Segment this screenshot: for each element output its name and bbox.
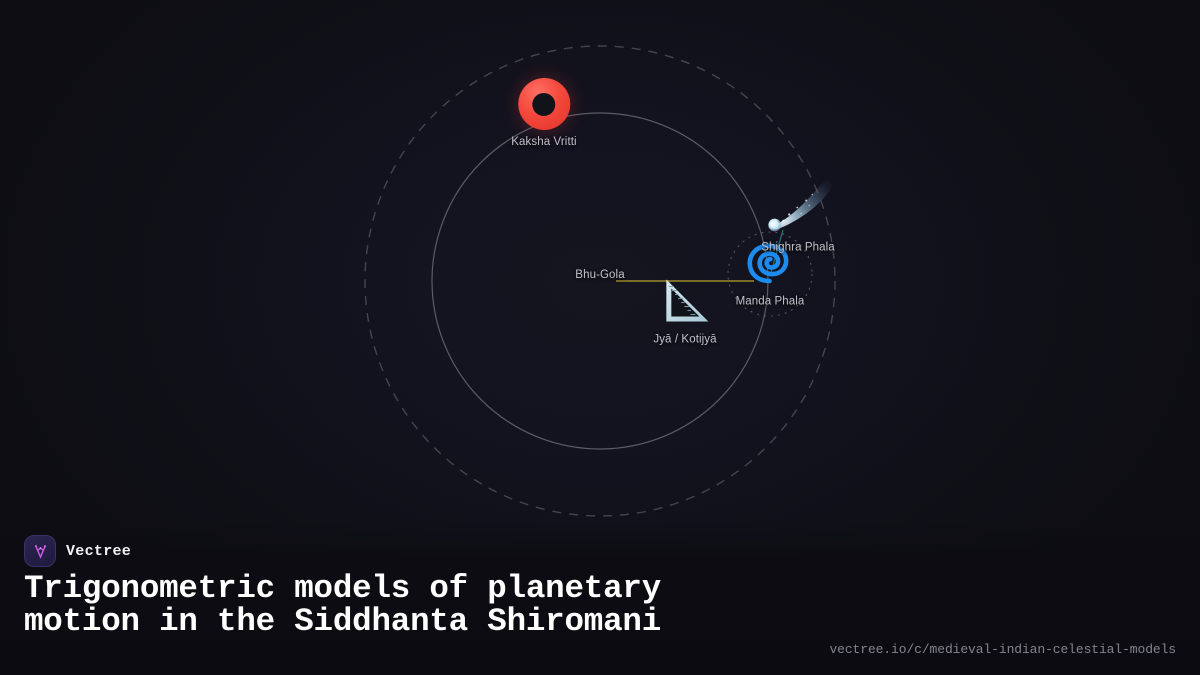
- node-bhu-gola[interactable]: Bhu-Gola: [575, 263, 624, 281]
- footer-bar: Vectree Trigonometric models of planetar…: [0, 520, 1200, 675]
- brand-name: Vectree: [66, 543, 131, 560]
- footer-url[interactable]: vectree.io/c/medieval-indian-celestial-m…: [829, 642, 1176, 657]
- page-title: Trigonometric models of planetary motion…: [24, 572, 661, 638]
- node-jya-kotijya[interactable]: Jyā / Kotijyā: [653, 277, 716, 346]
- node-label-kaksha-vritti: Kaksha Vritti: [511, 136, 576, 148]
- node-label-shighra-phala: Shighra Phala: [761, 242, 835, 254]
- screenshot-root: Kaksha Vritti Bhu-Gola Manda Phala: [0, 0, 1200, 675]
- page-title-line-1: Trigonometric models of planetary: [24, 572, 661, 605]
- node-shighra-phala[interactable]: Shighra Phala: [761, 177, 835, 254]
- node-label-bhu-gola: Bhu-Gola: [575, 269, 624, 281]
- heavy-red-circle-icon: [518, 78, 570, 130]
- node-kaksha-vritti[interactable]: Kaksha Vritti: [511, 78, 576, 148]
- comet-icon: [762, 177, 834, 236]
- node-label-manda-phala: Manda Phala: [736, 296, 805, 308]
- brand-block[interactable]: Vectree: [24, 535, 131, 567]
- node-label-jya-kotijya: Jyā / Kotijyā: [653, 334, 716, 346]
- page-title-line-2: motion in the Siddhanta Shiromani: [24, 605, 661, 638]
- vectree-logo-icon: [24, 535, 56, 567]
- triangular-ruler-icon: [659, 277, 711, 328]
